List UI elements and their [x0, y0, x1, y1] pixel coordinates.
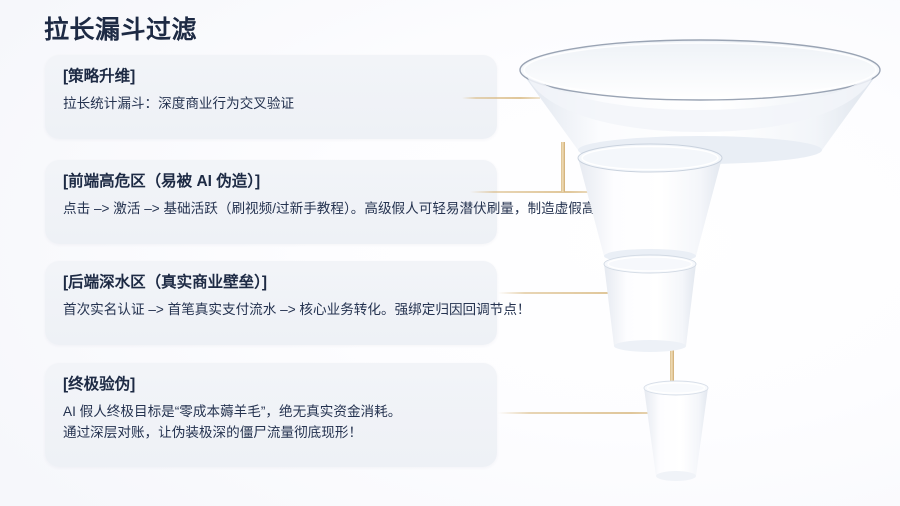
funnel-stage-3	[604, 255, 696, 352]
funnel-rod-2	[648, 252, 652, 300]
card-heading: [策略升维]	[63, 67, 479, 88]
card-body: 首次实名认证 –> 首笔真实支付流水 –> 核心业务转化。强绑定归因回调节点！	[63, 299, 479, 320]
info-card-strategy: [策略升维] 拉长统计漏斗：深度商业行为交叉验证	[45, 55, 497, 139]
info-card-frontend-risk: [前端高危区（易被 AI 伪造）] 点击 –> 激活 –> 基础活跃（刷视频/过…	[45, 160, 497, 244]
connector-line-1	[462, 97, 540, 99]
funnel-rod-3	[670, 342, 674, 386]
funnel-stage-4	[644, 381, 708, 481]
card-body-line: 通过深层对账，让伪装极深的僵尸流量彻底现形！	[63, 422, 479, 443]
connector-line-4	[498, 412, 676, 414]
connector-line-3	[498, 292, 646, 294]
card-body-line: 拉长统计漏斗：深度商业行为交叉验证	[63, 93, 479, 114]
card-heading: [终极验伪]	[63, 375, 479, 396]
card-body: AI 假人终极目标是“零成本薅羊毛”，绝无真实资金消耗。 通过深层对账，让伪装极…	[63, 401, 479, 443]
info-card-backend-moat: [后端深水区（真实商业壁垒）] 首次实名认证 –> 首笔真实支付流水 –> 核心…	[45, 261, 497, 345]
card-heading: [前端高危区（易被 AI 伪造）]	[63, 172, 479, 193]
card-body: 点击 –> 激活 –> 基础活跃（刷视频/过新手教程）。高级假人可轻易潜伏刷量，…	[63, 198, 479, 219]
funnel-rod-1	[561, 142, 565, 192]
card-body: 拉长统计漏斗：深度商业行为交叉验证	[63, 93, 479, 114]
card-body-line: AI 假人终极目标是“零成本薅羊毛”，绝无真实资金消耗。	[63, 401, 479, 422]
slide-canvas: 拉长漏斗过滤 [策略升维] 拉长统计漏斗：深度商业行为交叉验证 [前端高危区（易…	[0, 0, 900, 506]
connector-line-2	[470, 191, 602, 193]
funnel-stage-1	[520, 40, 880, 164]
page-title: 拉长漏斗过滤	[44, 10, 197, 46]
card-heading: [后端深水区（真实商业壁垒）]	[63, 273, 479, 294]
card-body-line: 首次实名认证 –> 首笔真实支付流水 –> 核心业务转化。强绑定归因回调节点！	[63, 299, 479, 320]
info-card-final-verification: [终极验伪] AI 假人终极目标是“零成本薅羊毛”，绝无真实资金消耗。 通过深层…	[45, 363, 497, 467]
card-body-line: 点击 –> 激活 –> 基础活跃（刷视频/过新手教程）。高级假人可轻易潜伏刷量，…	[63, 198, 479, 219]
stacked-funnel-illustration	[500, 24, 900, 494]
